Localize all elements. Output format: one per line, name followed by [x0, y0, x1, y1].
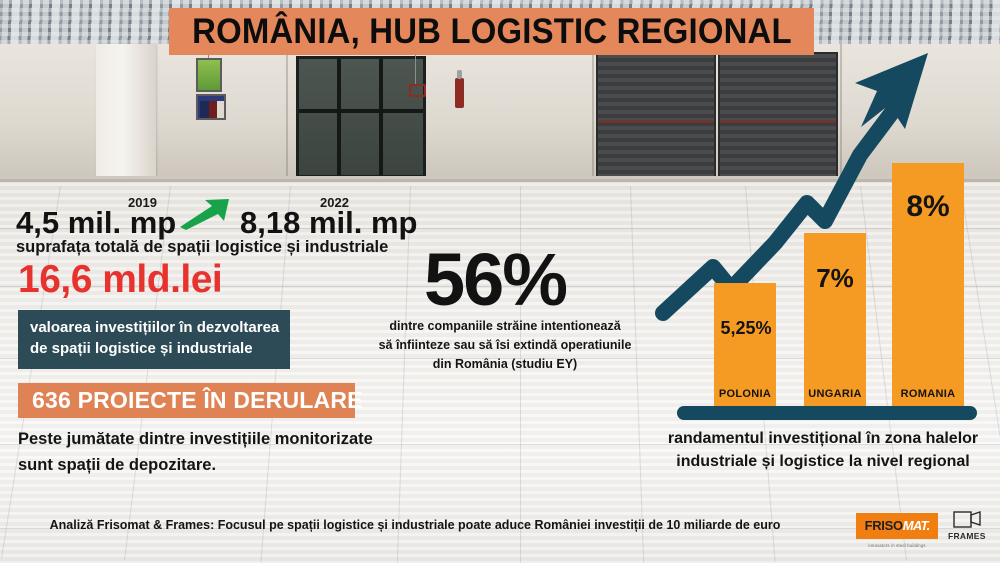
frisomat-logo-part1: FRISO	[865, 518, 903, 533]
projects-headline: 636 PROIECTE ÎN DERULARE	[32, 387, 363, 414]
projects-note-line1: Peste jumătate dintre investițiile monit…	[18, 427, 373, 453]
frames-logo-text: FRAMES	[948, 531, 986, 541]
investment-value: 16,6 mld.lei	[18, 258, 222, 302]
glass-door	[296, 56, 426, 178]
companies-percentage: 56%	[424, 243, 566, 317]
companies-note: dintre companiile străine intentionează …	[378, 317, 632, 373]
surface-value-from: 4,5 mil. mp	[16, 205, 176, 241]
bar-value-romania: 8%	[890, 190, 966, 224]
projects-note: Peste jumătate dintre investițiile monit…	[18, 427, 373, 478]
footer-note: Analiză Frisomat & Frames: Focusul pe sp…	[0, 518, 830, 532]
projects-headline-box: 636 PROIECTE ÎN DERULARE	[18, 383, 355, 418]
frisomat-logo: FRISO MAT. innovators in steel buildings	[856, 513, 938, 539]
chart-caption-line2: industriale și logistice la nivel region…	[655, 450, 991, 473]
investment-caption-line1: valoarea investițiilor în dezvoltarea	[30, 317, 278, 338]
companies-note-line3: din România (studiu EY)	[378, 355, 632, 374]
bar-label-polonia: POLONIA	[708, 388, 782, 400]
bar-value-polonia: 5,25%	[706, 318, 786, 339]
surface-value-to: 8,18 mil. mp	[240, 205, 417, 241]
frisomat-logo-part2: MAT.	[903, 518, 930, 533]
footer-logos: FRISO MAT. innovators in steel buildings…	[856, 510, 986, 541]
wall-column	[96, 44, 156, 180]
frames-mark-icon	[952, 510, 982, 530]
alarm-icon	[409, 84, 426, 97]
surface-caption: suprafața totală de spații logistice și …	[16, 238, 388, 257]
fire-extinguisher-icon	[455, 78, 464, 108]
frames-logo: FRAMES	[948, 510, 986, 541]
control-panel	[196, 58, 222, 92]
bar-value-ungaria: 7%	[800, 263, 870, 294]
chart-baseline	[677, 406, 977, 420]
frisomat-tagline: innovators in steel buildings	[856, 543, 938, 548]
bar-ungaria	[804, 233, 866, 413]
bar-label-ungaria: UNGARIA	[798, 388, 872, 400]
investment-caption-box: valoarea investițiilor în dezvoltarea de…	[18, 310, 290, 369]
chart-caption: randamentul investițional în zona halelo…	[655, 427, 991, 473]
chart-caption-line1: randamentul investițional în zona halelo…	[655, 427, 991, 450]
infographic-canvas: ROMÂNIA, HUB LOGISTIC REGIONAL 2019 2022…	[0, 0, 1000, 563]
investment-caption-line2: de spații logistice și industriale	[30, 338, 278, 359]
green-up-right-arrow-icon	[176, 196, 232, 230]
bar-label-romania: ROMANIA	[890, 388, 966, 400]
companies-note-line2: să înfiinteze sau să îsi extindă operati…	[378, 336, 632, 355]
companies-note-line1: dintre companiile străine intentionează	[378, 317, 632, 336]
projects-note-line2: sunt spații de depozitare.	[18, 453, 373, 479]
